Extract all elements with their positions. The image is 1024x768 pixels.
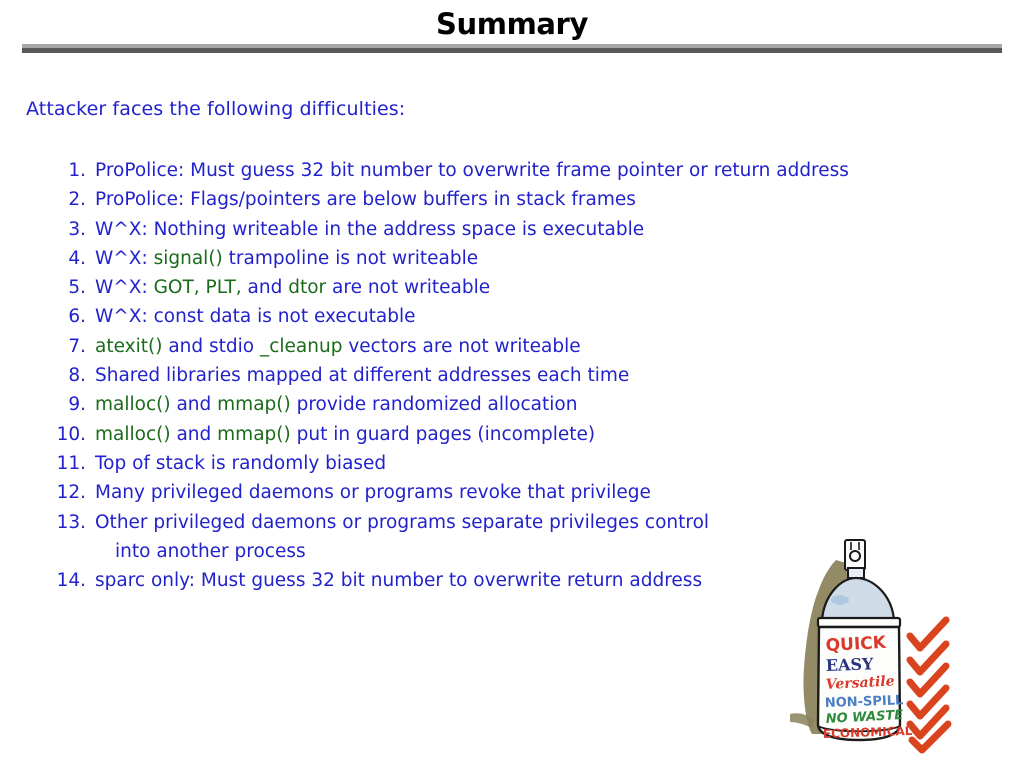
can-rim	[818, 618, 900, 627]
list-item: 8.Shared libraries mapped at different a…	[52, 361, 982, 390]
list-item-number: 3.	[52, 215, 86, 244]
text-segment: mmap()	[217, 424, 291, 445]
list-item-number: 8.	[52, 361, 86, 390]
list-item-text: malloc() and mmap() put in guard pages (…	[95, 420, 595, 449]
list-item: 2.ProPolice: Flags/pointers are below bu…	[52, 185, 982, 214]
text-segment: are not writeable	[326, 277, 490, 298]
can-highlight	[831, 595, 849, 605]
list-item-text: Other privileged daemons or programs sep…	[95, 508, 709, 537]
list-item-number: 6.	[52, 302, 86, 331]
list-item: 3.W^X: Nothing writeable in the address …	[52, 215, 982, 244]
list-item-text: W^X: GOT, PLT, and dtor are not writeabl…	[95, 273, 490, 302]
text-segment: W^X: const data is not executable	[95, 306, 416, 327]
text-segment: W^X: Nothing writeable in the address sp…	[95, 219, 644, 240]
list-item: 4.W^X: signal() trampoline is not writea…	[52, 244, 982, 273]
text-segment: _cleanup	[260, 336, 342, 357]
list-item-number: 7.	[52, 332, 86, 361]
text-segment: malloc()	[95, 424, 171, 445]
can-nozzle-stem	[848, 568, 864, 578]
text-segment: into another process	[115, 541, 306, 562]
can-label-quick: QUICK	[825, 633, 887, 656]
text-segment: sparc only: Must guess 32 bit number to …	[95, 570, 702, 591]
list-item-number: 9.	[52, 390, 86, 419]
can-label-economical: ECONOMICAL	[823, 724, 913, 741]
list-item-text: W^X: signal() trampoline is not writeabl…	[95, 244, 478, 273]
text-segment: and	[242, 277, 289, 298]
list-item-text: W^X: Nothing writeable in the address sp…	[95, 215, 644, 244]
list-item: 10.malloc() and mmap() put in guard page…	[52, 420, 982, 449]
list-item: 6.W^X: const data is not executable	[52, 302, 982, 331]
text-segment: vectors are not writeable	[342, 336, 580, 357]
list-item-text: ProPolice: Must guess 32 bit number to o…	[95, 156, 849, 185]
checkmark-group	[910, 620, 948, 750]
list-item-text: Many privileged daemons or programs revo…	[95, 478, 651, 507]
can-label-easy: EASY	[825, 654, 874, 675]
list-item-number: 5.	[52, 273, 86, 302]
text-segment: ProPolice: Must guess 32 bit number to o…	[95, 160, 849, 181]
spray-can-illustration: QUICK EASY Versatile NON-SPILL NO WASTE …	[782, 528, 1000, 756]
list-item-number: 12.	[52, 478, 86, 507]
text-segment: Other privileged daemons or programs sep…	[95, 512, 709, 533]
list-item-text: ProPolice: Flags/pointers are below buff…	[95, 185, 636, 214]
list-item-number: 11.	[52, 449, 86, 478]
text-segment: malloc()	[95, 394, 171, 415]
list-item-text: malloc() and mmap() provide randomized a…	[95, 390, 577, 419]
list-item: 1.ProPolice: Must guess 32 bit number to…	[52, 156, 982, 185]
list-item-text: sparc only: Must guess 32 bit number to …	[95, 566, 702, 595]
text-segment: and	[171, 424, 218, 445]
text-segment: trampoline is not writeable	[223, 248, 478, 269]
list-item: 5.W^X: GOT, PLT, and dtor are not writea…	[52, 273, 982, 302]
text-segment: dtor	[288, 277, 326, 298]
text-segment: Shared libraries mapped at different add…	[95, 365, 629, 386]
list-item: 11.Top of stack is randomly biased	[52, 449, 982, 478]
list-item: 7.atexit() and stdio _cleanup vectors ar…	[52, 332, 982, 361]
text-segment: GOT, PLT,	[154, 277, 242, 298]
text-segment: W^X:	[95, 277, 154, 298]
divider-dark-band	[22, 48, 1002, 53]
checkmark-icon	[910, 620, 946, 648]
title-divider	[22, 44, 1002, 53]
list-item-text: Top of stack is randomly biased	[95, 449, 386, 478]
list-item-text: atexit() and stdio _cleanup vectors are …	[95, 332, 581, 361]
list-item-number: 1.	[52, 156, 86, 185]
text-segment: provide randomized allocation	[291, 394, 578, 415]
text-segment: mmap()	[217, 394, 291, 415]
text-segment: and	[171, 394, 218, 415]
text-segment: W^X:	[95, 248, 154, 269]
text-segment: put in guard pages (incomplete)	[291, 424, 595, 445]
list-item-number: 14.	[52, 566, 86, 595]
list-item-text: Shared libraries mapped at different add…	[95, 361, 629, 390]
list-item-number: 2.	[52, 185, 86, 214]
text-segment: signal()	[154, 248, 223, 269]
intro-text: Attacker faces the following difficultie…	[26, 98, 405, 120]
text-segment: Top of stack is randomly biased	[95, 453, 386, 474]
text-segment: ProPolice: Flags/pointers are below buff…	[95, 189, 636, 210]
can-nozzle-tag	[845, 540, 865, 570]
list-item-number: 10.	[52, 420, 86, 449]
page-title: Summary	[0, 6, 1024, 42]
list-item-text: W^X: const data is not executable	[95, 302, 416, 331]
list-item-number: 13.	[52, 508, 86, 537]
list-item-number: 4.	[52, 244, 86, 273]
list-item: 9.malloc() and mmap() provide randomized…	[52, 390, 982, 419]
text-segment: atexit()	[95, 336, 162, 357]
list-item: 12.Many privileged daemons or programs r…	[52, 478, 982, 507]
text-segment: Many privileged daemons or programs revo…	[95, 482, 651, 503]
text-segment: and stdio	[162, 336, 260, 357]
